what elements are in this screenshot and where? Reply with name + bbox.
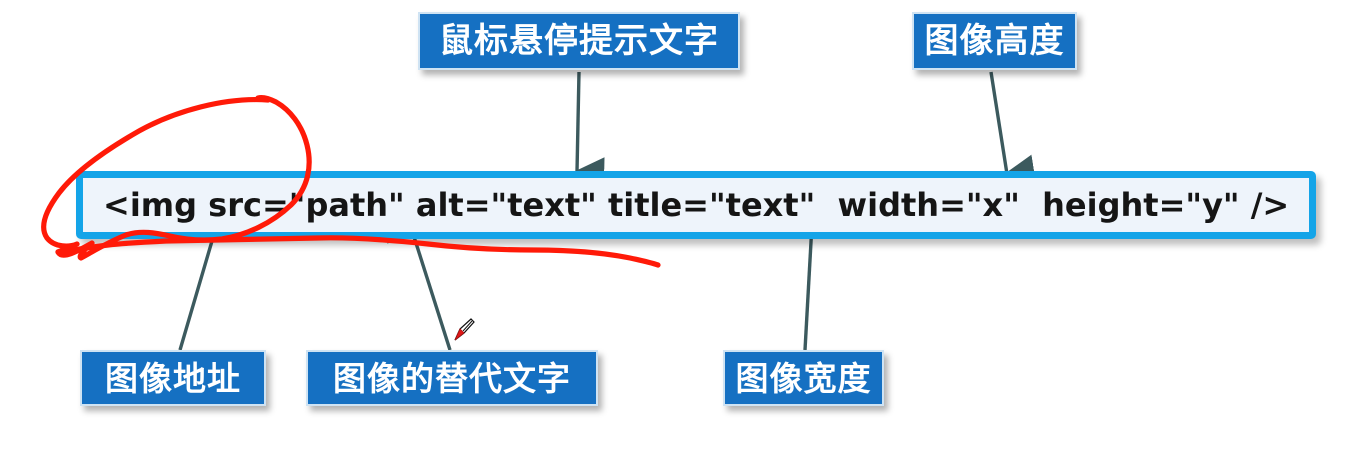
callout-height-attribute[interactable]: 图像高度: [912, 12, 1077, 70]
connector-src-attr: [180, 224, 217, 350]
callout-width-attribute-label: 图像宽度: [736, 362, 872, 395]
callout-title-attribute-label: 鼠标悬停提示文字: [439, 24, 719, 58]
red-underline-stroke: [58, 238, 658, 265]
callout-src-attribute-label: 图像地址: [105, 362, 241, 395]
callout-title-attribute[interactable]: 鼠标悬停提示文字: [418, 12, 740, 70]
connector-height-attr: [991, 72, 1007, 174]
code-snippet-box: <img src="path" alt="text" title="text" …: [76, 171, 1316, 239]
connector-alt-attr: [409, 221, 450, 350]
callout-alt-attribute[interactable]: 图像的替代文字: [306, 350, 598, 406]
callout-height-attribute-label: 图像高度: [925, 24, 1065, 58]
pen-cursor-icon: [455, 319, 474, 340]
code-snippet-text: <img src="path" alt="text" title="text" …: [83, 186, 1289, 224]
diagram-canvas: <img src="path" alt="text" title="text" …: [0, 0, 1362, 458]
callout-alt-attribute-label: 图像的替代文字: [333, 362, 571, 395]
callout-src-attribute[interactable]: 图像地址: [80, 350, 266, 406]
connector-title-attr: [577, 72, 579, 172]
callout-width-attribute[interactable]: 图像宽度: [723, 350, 884, 406]
connector-width-attr: [805, 224, 812, 350]
